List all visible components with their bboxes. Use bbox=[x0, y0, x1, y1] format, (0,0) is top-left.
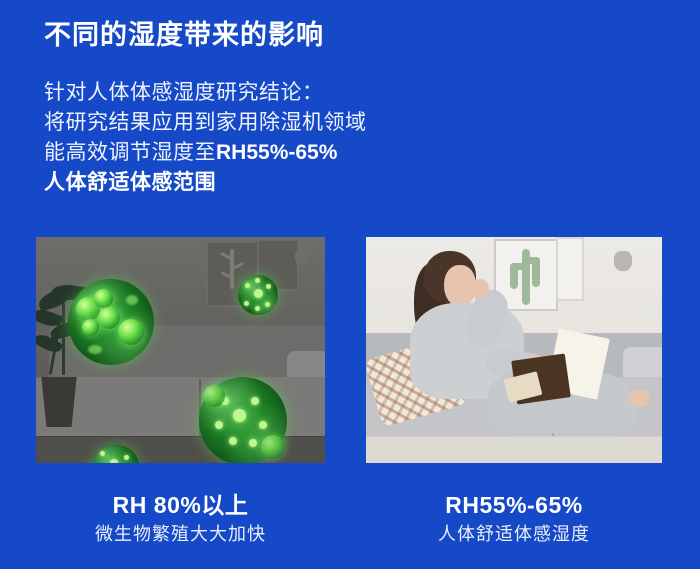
intro-copy-block: 针对人体体感湿度研究结论： 将研究结果应用到家用除湿机领域 能高效调节湿度至RH… bbox=[44, 78, 474, 198]
germ-spike bbox=[124, 455, 129, 460]
germ-spike bbox=[255, 278, 260, 283]
caption-title: RH 80%以上 bbox=[36, 490, 325, 520]
germ-spike bbox=[110, 459, 118, 463]
panel-image-high-humidity bbox=[36, 237, 325, 463]
germ-blob bbox=[94, 289, 113, 308]
foot bbox=[629, 389, 649, 407]
floor-baseboard bbox=[366, 436, 662, 463]
germ-blob bbox=[98, 307, 120, 329]
hand-on-forehead bbox=[470, 279, 489, 299]
germ-blob bbox=[203, 385, 225, 407]
wall-art-frame bbox=[556, 237, 584, 301]
caption-title: RH55%-65% bbox=[366, 490, 662, 520]
comparison-panels bbox=[0, 237, 700, 463]
cactus-icon bbox=[510, 263, 526, 270]
panel-image-comfort-humidity bbox=[366, 237, 662, 463]
germ-icon bbox=[199, 377, 287, 463]
germ-blob bbox=[82, 319, 99, 336]
germ-spike bbox=[266, 284, 271, 289]
germ-fleck bbox=[126, 295, 138, 305]
copy-line-3-prefix: 能高效调节湿度至 bbox=[44, 141, 216, 164]
scene-dark-living-room bbox=[36, 237, 325, 463]
germ-spike bbox=[254, 289, 263, 298]
germ-icon bbox=[68, 279, 154, 365]
germ-spike bbox=[249, 439, 257, 447]
copy-line-2: 将研究结果应用到家用除湿机领域 bbox=[44, 108, 474, 138]
poster-root: 不同的湿度带来的影响 针对人体体感湿度研究结论： 将研究结果应用到家用除湿机领域… bbox=[0, 0, 700, 569]
caption-high-humidity: RH 80%以上 微生物繁殖大大加快 bbox=[36, 490, 325, 548]
copy-line-4: 人体舒适体感范围 bbox=[44, 168, 474, 198]
caption-subtitle: 人体舒适体感湿度 bbox=[366, 520, 662, 548]
cactus-icon bbox=[526, 257, 540, 264]
wall-thermostat-icon bbox=[614, 251, 632, 271]
page-title: 不同的湿度带来的影响 bbox=[44, 18, 324, 53]
germ-spike bbox=[255, 306, 260, 311]
germ-spike bbox=[244, 301, 249, 306]
copy-line-3: 能高效调节湿度至RH55%-65% bbox=[44, 138, 474, 168]
germ-spike bbox=[229, 437, 237, 445]
germ-icon bbox=[238, 275, 278, 315]
caption-subtitle: 微生物繁殖大大加快 bbox=[36, 520, 325, 548]
caption-comfort-humidity: RH55%-65% 人体舒适体感湿度 bbox=[366, 490, 662, 548]
copy-line-1: 针对人体体感湿度研究结论： bbox=[44, 78, 474, 108]
wall-thermostat-icon bbox=[295, 249, 309, 265]
germ-blob bbox=[118, 319, 144, 345]
germ-spike bbox=[251, 397, 259, 405]
germ-spike bbox=[265, 302, 270, 307]
scene-bright-living-room bbox=[366, 237, 662, 463]
germ-fleck bbox=[88, 345, 102, 354]
plant-stem bbox=[62, 303, 65, 375]
humidity-range-highlight: RH55%-65% bbox=[216, 141, 337, 164]
germ-spike bbox=[245, 283, 250, 288]
germ-blob bbox=[261, 435, 285, 459]
germ-spike bbox=[259, 421, 267, 429]
germ-spike bbox=[215, 421, 223, 429]
germ-spike bbox=[233, 409, 246, 422]
germ-spike bbox=[100, 451, 105, 456]
